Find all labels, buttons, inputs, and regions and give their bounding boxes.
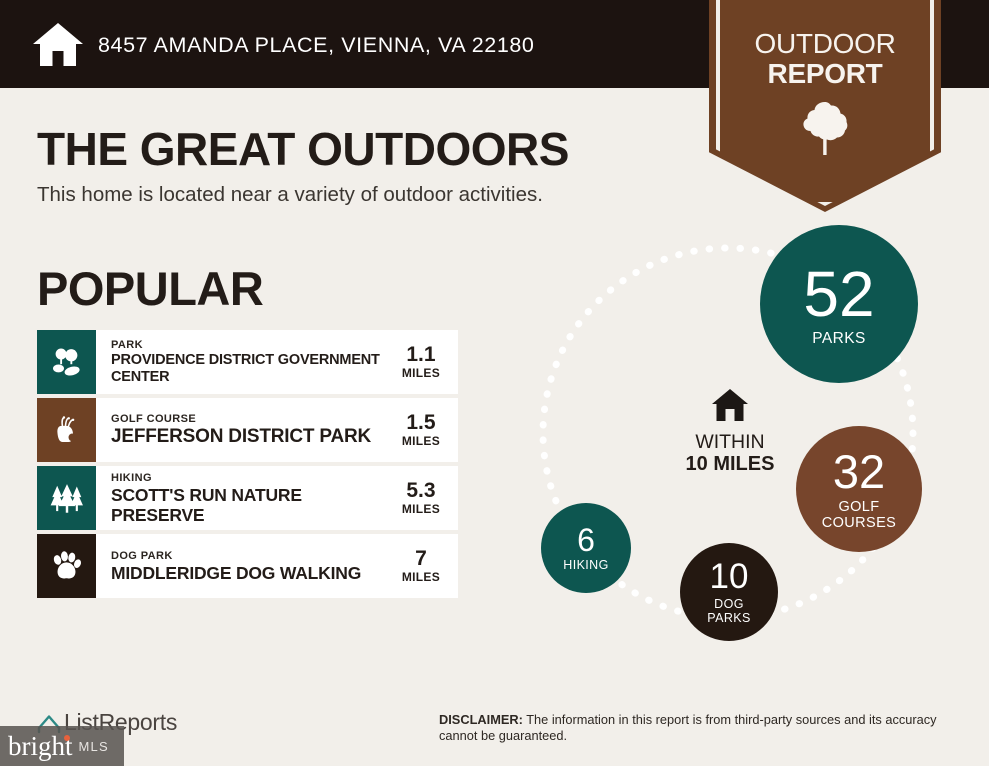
list-item-name: PROVIDENCE DISTRICT GOVERNMENT CENTER <box>111 352 398 385</box>
bubble-hiking[interactable]: 6 HIKING <box>541 503 631 593</box>
bubble-golf-courses[interactable]: 32 GOLF COURSES <box>796 426 922 552</box>
bubble-hiking-value: 6 <box>577 524 595 556</box>
bubble-parks-label: PARKS <box>812 331 865 347</box>
badge-line-2: REPORT <box>709 58 941 90</box>
popular-heading: POPULAR <box>37 261 263 316</box>
bubble-dog-parks-label: DOG <box>714 597 744 611</box>
distance-unit: MILES <box>402 366 440 380</box>
home-icon <box>711 388 749 422</box>
list-item-distance: 1.5 MILES <box>398 412 452 448</box>
distance-value: 1.1 <box>402 344 440 366</box>
list-item-name: SCOTT'S RUN NATURE PRESERVE <box>111 485 398 525</box>
outdoor-report-page: 8457 AMANDA PLACE, VIENNA, VA 22180 OUTD… <box>0 0 989 766</box>
disclaimer: DISCLAIMER: The information in this repo… <box>439 712 959 743</box>
list-item-body: HIKING SCOTT'S RUN NATURE PRESERVE 5.3 M… <box>96 466 458 530</box>
list-item[interactable]: GOLF COURSE JEFFERSON DISTRICT PARK 1.5 … <box>37 398 458 462</box>
distance-unit: MILES <box>402 434 440 448</box>
bright-mls-watermark: bright MLS <box>0 726 124 766</box>
outdoor-report-badge: OUTDOOR REPORT <box>709 0 941 212</box>
list-item-body: DOG PARK MIDDLERIDGE DOG WALKING 7 MILES <box>96 534 458 598</box>
bubble-golf-label: GOLF <box>838 499 879 515</box>
center-line-1: WITHIN <box>650 431 810 453</box>
distance-unit: MILES <box>402 502 440 516</box>
list-item-text: GOLF COURSE JEFFERSON DISTRICT PARK <box>111 413 398 447</box>
paw-print-icon-tile <box>37 534 96 598</box>
bubble-dog-parks-label-2: PARKS <box>707 611 750 625</box>
property-address: 8457 AMANDA PLACE, VIENNA, VA 22180 <box>98 33 535 58</box>
within-10-miles-chart: 52 PARKS 32 GOLF COURSES 10 DOG PARKS 6 … <box>490 220 989 670</box>
watermark-suffix: MLS <box>79 739 109 754</box>
page-title: THE GREAT OUTDOORS <box>37 122 569 176</box>
golf-bag-icon <box>54 416 80 445</box>
bubble-dog-parks-value: 10 <box>710 559 749 594</box>
distance-value: 5.3 <box>402 480 440 502</box>
bubble-golf-label-2: COURSES <box>822 515 897 531</box>
page-subtitle: This home is located near a variety of o… <box>37 183 543 207</box>
park-icon <box>50 347 84 378</box>
watermark-brand-text: bright <box>8 731 73 761</box>
list-item-text: HIKING SCOTT'S RUN NATURE PRESERVE <box>111 472 398 525</box>
bubble-hiking-label: HIKING <box>563 559 608 572</box>
disclaimer-label: DISCLAIMER: <box>439 712 523 727</box>
list-item-body: GOLF COURSE JEFFERSON DISTRICT PARK 1.5 … <box>96 398 458 462</box>
list-item[interactable]: PARK PROVIDENCE DISTRICT GOVERNMENT CENT… <box>37 330 458 394</box>
distance-value: 1.5 <box>402 412 440 434</box>
pine-trees-icon-tile <box>37 466 96 530</box>
pine-trees-icon <box>49 483 85 513</box>
list-item-category: GOLF COURSE <box>111 413 398 426</box>
list-item-category: HIKING <box>111 472 398 485</box>
bubble-parks-value: 52 <box>803 262 874 326</box>
list-item-text: DOG PARK MIDDLERIDGE DOG WALKING <box>111 550 398 583</box>
bubble-dog-parks[interactable]: 10 DOG PARKS <box>680 543 778 641</box>
distance-value: 7 <box>402 548 440 570</box>
list-item-distance: 7 MILES <box>398 548 452 584</box>
list-item-body: PARK PROVIDENCE DISTRICT GOVERNMENT CENT… <box>96 330 458 394</box>
center-line-2: 10 MILES <box>650 453 810 476</box>
bubble-golf-value: 32 <box>833 448 885 495</box>
list-item-text: PARK PROVIDENCE DISTRICT GOVERNMENT CENT… <box>111 339 398 385</box>
golf-bag-icon-tile <box>37 398 96 462</box>
tree-icon <box>802 100 848 156</box>
list-item-category: PARK <box>111 339 398 352</box>
list-item-name: MIDDLERIDGE DOG WALKING <box>111 563 398 583</box>
list-item[interactable]: DOG PARK MIDDLERIDGE DOG WALKING 7 MILES <box>37 534 458 598</box>
list-item[interactable]: HIKING SCOTT'S RUN NATURE PRESERVE 5.3 M… <box>37 466 458 530</box>
watermark-brand: bright <box>8 733 73 760</box>
home-icon <box>32 21 84 68</box>
paw-print-icon <box>50 551 83 582</box>
popular-list: PARK PROVIDENCE DISTRICT GOVERNMENT CENT… <box>37 330 458 602</box>
list-item-name: JEFFERSON DISTRICT PARK <box>111 426 398 447</box>
park-icon-tile <box>37 330 96 394</box>
list-item-distance: 1.1 MILES <box>398 344 452 380</box>
distance-unit: MILES <box>402 570 440 584</box>
bubble-parks[interactable]: 52 PARKS <box>760 225 918 383</box>
watermark-dot <box>64 735 70 741</box>
chart-center-label: WITHIN 10 MILES <box>650 388 810 476</box>
badge-line-1: OUTDOOR <box>709 28 941 60</box>
list-item-distance: 5.3 MILES <box>398 480 452 516</box>
list-item-category: DOG PARK <box>111 550 398 563</box>
